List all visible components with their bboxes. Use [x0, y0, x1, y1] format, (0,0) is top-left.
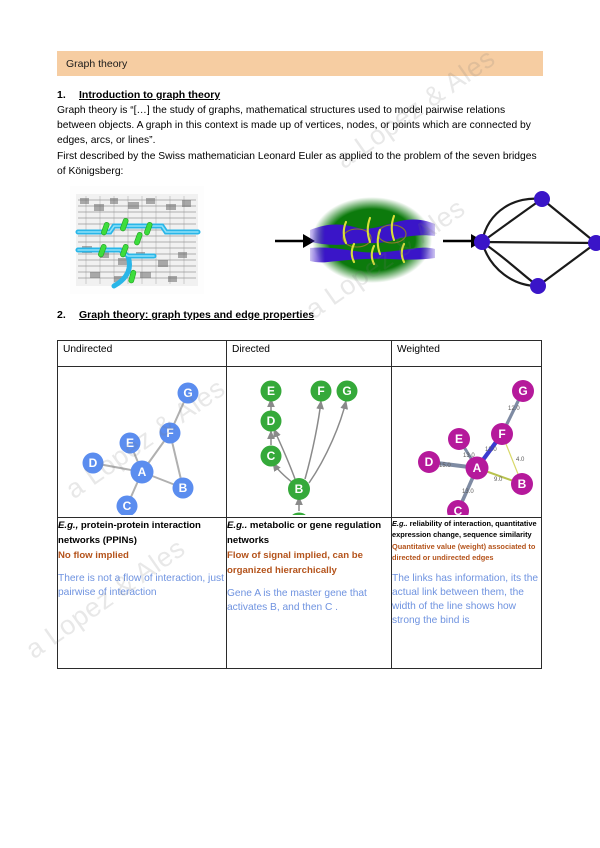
undirected-highlight: No flow implied [58, 548, 226, 563]
weighted-graph-image: 12.0 12.0 4.0 13.0 15.0 9.0 13.0 [392, 367, 541, 517]
directed-note: Gene A is the master gene that activates… [227, 587, 391, 615]
weighted-note: The links has information, its the actua… [392, 572, 541, 628]
document-banner: Graph theory [57, 51, 543, 76]
undirected-note: There is not a flow of interaction, just… [58, 572, 226, 600]
weighted-example-text: reliability of interaction, quantitative… [392, 519, 537, 539]
column-header-undirected: Undirected [58, 341, 227, 367]
section-1-number: 1. [57, 89, 79, 101]
svg-text:F: F [317, 384, 324, 398]
graph-types-table: Undirected Directed Weighted [57, 340, 542, 669]
svg-text:9.0: 9.0 [494, 477, 503, 483]
svg-text:F: F [498, 427, 505, 441]
svg-text:D: D [89, 456, 98, 470]
directed-graph-image: E F G D C B A [227, 367, 391, 517]
column-header-directed: Directed [227, 341, 392, 367]
intro-paragraph-2: First described by the Swiss mathematici… [57, 149, 545, 179]
svg-text:G: G [342, 384, 351, 398]
directed-example-text: metabolic or gene regulation networks [227, 520, 381, 546]
directed-description-cell: E.g.. metabolic or gene regulation netwo… [227, 518, 392, 669]
directed-graph-cell: E F G D C B A [227, 367, 392, 518]
section-2-heading: 2.Graph theory: graph types and edge pro… [57, 309, 314, 321]
table-header-row: Undirected Directed Weighted [58, 341, 542, 367]
konigsberg-graph-image [470, 186, 600, 298]
svg-text:4.0: 4.0 [516, 457, 525, 463]
svg-text:F: F [166, 426, 173, 440]
svg-text:C: C [267, 449, 276, 463]
intro-paragraphs: Graph theory is “[…] the study of graphs… [57, 103, 545, 179]
weighted-highlight: Quantitative value (weight) associated t… [392, 541, 541, 564]
undirected-example-prefix: E.g., [58, 520, 78, 531]
svg-text:A: A [138, 465, 147, 479]
weighted-graph-cell: 12.0 12.0 4.0 13.0 15.0 9.0 13.0 [392, 367, 542, 518]
section-1-heading: 1.Introduction to graph theory [57, 89, 220, 101]
svg-text:G: G [183, 386, 192, 400]
svg-text:15.0: 15.0 [439, 463, 451, 469]
konigsberg-figure-row [70, 186, 540, 298]
undirected-graph-cell: G F E D A B C [58, 367, 227, 518]
svg-text:12.0: 12.0 [508, 406, 520, 412]
table-description-row: E.g., protein-protein interaction networ… [58, 518, 542, 669]
directed-example-prefix: E.g.. [227, 520, 247, 531]
svg-text:12.0: 12.0 [485, 447, 497, 453]
svg-text:A: A [473, 461, 482, 475]
undirected-description-cell: E.g., protein-protein interaction networ… [58, 518, 227, 669]
table-graph-row: G F E D A B C [58, 367, 542, 518]
svg-text:G: G [518, 384, 527, 398]
undirected-graph-image: G F E D A B C [58, 367, 226, 517]
undirected-example-text: protein-protein interaction networks (PP… [58, 520, 201, 546]
directed-example: E.g.. metabolic or gene regulation netwo… [227, 518, 391, 548]
svg-text:B: B [518, 477, 527, 491]
konigsberg-map-image [70, 186, 204, 294]
directed-highlight: Flow of signal implied, can be organized… [227, 548, 391, 578]
undirected-example: E.g., protein-protein interaction networ… [58, 518, 226, 548]
svg-text:C: C [123, 499, 132, 513]
svg-text:E: E [455, 432, 463, 446]
section-1-title: Introduction to graph theory [79, 89, 220, 101]
weighted-example: E.g.. reliability of interaction, quanti… [392, 518, 541, 541]
section-2-title: Graph theory: graph types and edge prope… [79, 309, 314, 321]
intro-paragraph-1: Graph theory is “[…] the study of graphs… [57, 103, 545, 149]
svg-text:C: C [454, 504, 463, 515]
svg-text:D: D [267, 414, 276, 428]
weighted-example-prefix: E.g.. [392, 519, 408, 528]
svg-text:13.0: 13.0 [462, 489, 474, 495]
konigsberg-abstract-image [310, 186, 435, 294]
banner-title: Graph theory [57, 58, 127, 70]
column-header-weighted: Weighted [392, 341, 542, 367]
document-page: a Lopez & Ales a Lopez & Ales a Lopez & … [0, 0, 600, 848]
svg-text:D: D [425, 455, 434, 469]
svg-text:B: B [179, 481, 188, 495]
svg-text:B: B [295, 482, 304, 496]
svg-text:E: E [126, 436, 134, 450]
weighted-description-cell: E.g.. reliability of interaction, quanti… [392, 518, 542, 669]
section-2-number: 2. [57, 309, 79, 321]
svg-text:E: E [267, 384, 275, 398]
